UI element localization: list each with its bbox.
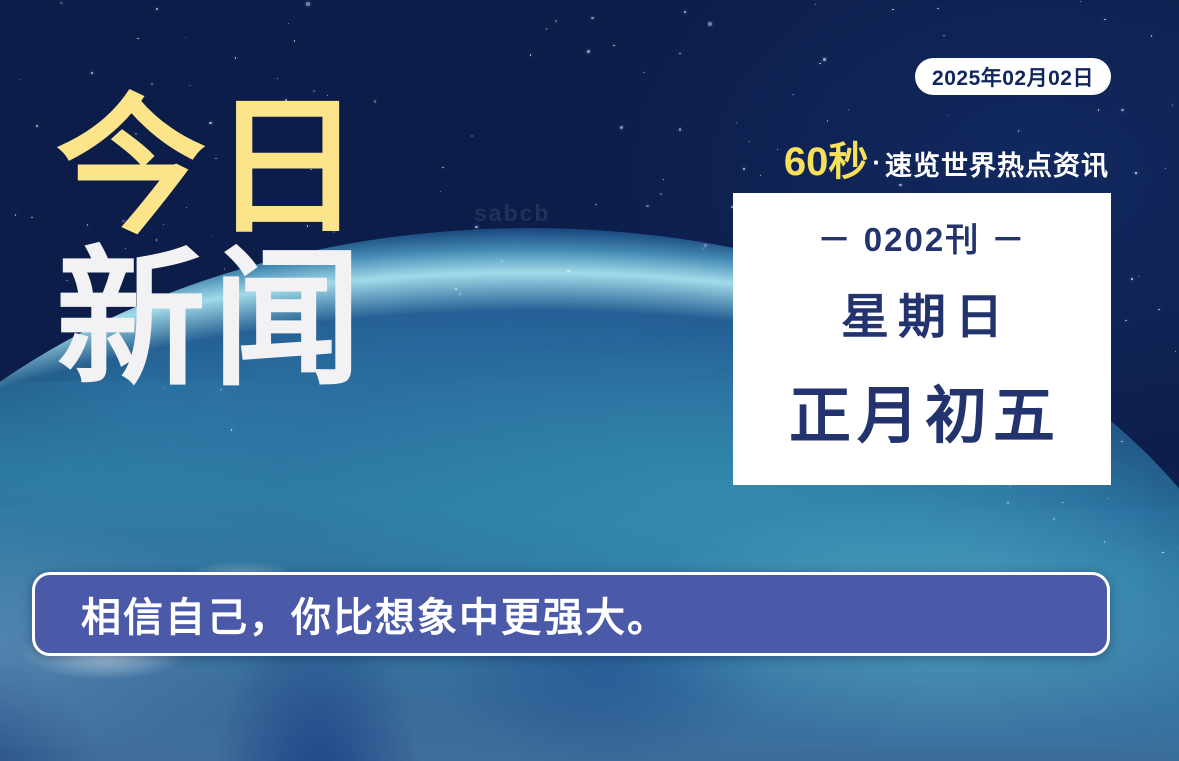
news-poster: sabcb 今日 新闻 2025年02月02日 60秒·速览世界热点资讯 － 0… — [0, 0, 1179, 761]
quote-text: 相信自己，你比想象中更强大。 — [81, 585, 669, 643]
tagline: 60秒·速览世界热点资讯 — [784, 140, 1109, 193]
brand-title-line1: 今日 — [56, 92, 486, 244]
quote-bar: 相信自己，你比想象中更强大。 — [32, 572, 1110, 656]
lunar-date-label: 正月初五 — [783, 365, 1061, 455]
brand-title: 今日 新闻 — [56, 92, 486, 396]
date-badge: 2025年02月02日 — [915, 58, 1111, 95]
issue-card: － 0202刊 － 星期日 正月初五 — [733, 193, 1111, 485]
tagline-text: 速览世界热点资讯 — [885, 151, 1109, 181]
tagline-separator: · — [868, 147, 885, 177]
brand-title-line2: 新闻 — [56, 244, 486, 396]
tagline-highlight: 60秒 — [784, 140, 869, 184]
weekday-label: 星期日 — [832, 277, 1012, 347]
issue-number: － 0202刊 － — [818, 213, 1027, 261]
